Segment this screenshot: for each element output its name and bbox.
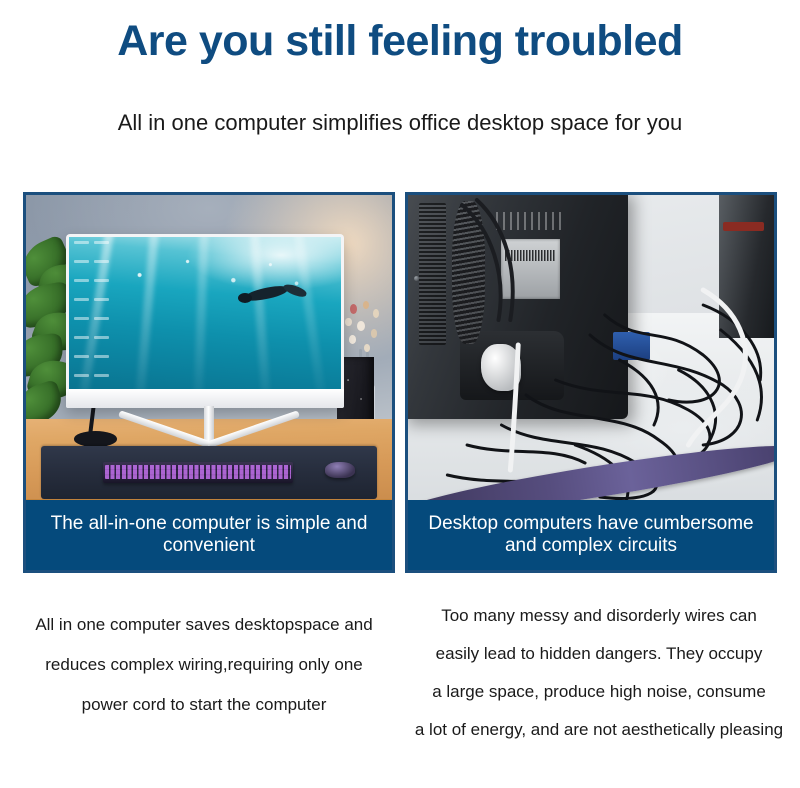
all-in-one-monitor <box>66 234 344 408</box>
page-subtitle: All in one computer simplifies office de… <box>0 110 800 136</box>
desktop-icon[interactable] <box>73 373 90 389</box>
body-line: reduces complex wiring,requiring only on… <box>8 645 400 685</box>
monitor-screen <box>69 237 341 389</box>
desktop-icon-grid[interactable] <box>73 240 110 389</box>
body-line: Too many messy and disorderly wires can <box>400 597 798 635</box>
keyboard-keys <box>105 465 291 479</box>
desktop-icon[interactable] <box>73 297 90 314</box>
desktop-icon[interactable] <box>93 240 110 257</box>
body-line: easily lead to hidden dangers. They occu… <box>400 635 798 673</box>
desktop-icon[interactable] <box>73 240 90 257</box>
desktop-icon[interactable] <box>73 259 90 276</box>
body-line: a large space, produce high noise, consu… <box>400 673 798 711</box>
desktop-icon[interactable] <box>73 354 90 371</box>
body-line: a lot of energy, and are not aesthetical… <box>400 711 798 749</box>
monitor-bezel <box>66 389 344 408</box>
comparison-panel-left: The all-in-one computer is simple and co… <box>23 192 395 573</box>
all-in-one-computer-photo <box>26 195 392 506</box>
desktop-icon[interactable] <box>73 278 90 295</box>
body-line: power cord to start the computer <box>8 685 400 725</box>
desktop-icon[interactable] <box>93 259 110 276</box>
lamp-base <box>74 431 118 447</box>
body-text-left: All in one computer saves desktopspace a… <box>8 605 400 725</box>
body-line: All in one computer saves desktopspace a… <box>8 605 400 645</box>
page-title: Are you still feeling troubled <box>0 18 800 64</box>
caption-right: Desktop computers have cumbersome and co… <box>408 500 774 570</box>
desktop-icon[interactable] <box>73 316 90 333</box>
desktop-icon[interactable] <box>93 373 110 389</box>
desktop-icon[interactable] <box>73 335 90 352</box>
keyboard[interactable] <box>103 462 293 483</box>
mouse[interactable] <box>325 462 355 478</box>
desktop-icon-heart[interactable] <box>93 354 110 371</box>
body-text-right: Too many messy and disorderly wires can … <box>400 597 798 749</box>
messy-cables-photo <box>408 195 774 506</box>
desktop-icon[interactable] <box>93 335 110 352</box>
comparison-panel-right: Desktop computers have cumbersome and co… <box>405 192 777 573</box>
diver-figure <box>238 278 309 311</box>
desktop-icon[interactable] <box>93 297 110 314</box>
caption-left: The all-in-one computer is simple and co… <box>26 500 392 570</box>
desktop-icon-chrome[interactable] <box>93 278 110 295</box>
desktop-icon[interactable] <box>93 316 110 333</box>
